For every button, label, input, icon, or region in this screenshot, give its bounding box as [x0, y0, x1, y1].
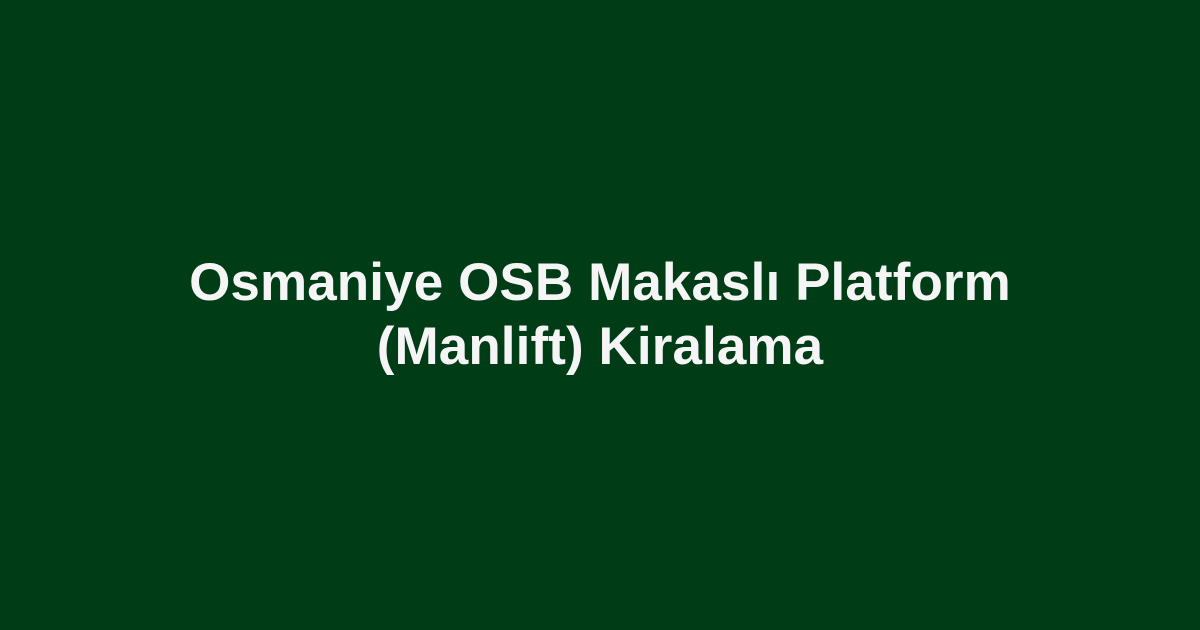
title-block: Osmaniye OSB Makaslı Platform (Manlift) … [170, 251, 1030, 379]
og-share-card: Osmaniye OSB Makaslı Platform (Manlift) … [0, 0, 1200, 630]
page-title: Osmaniye OSB Makaslı Platform (Manlift) … [170, 251, 1030, 379]
